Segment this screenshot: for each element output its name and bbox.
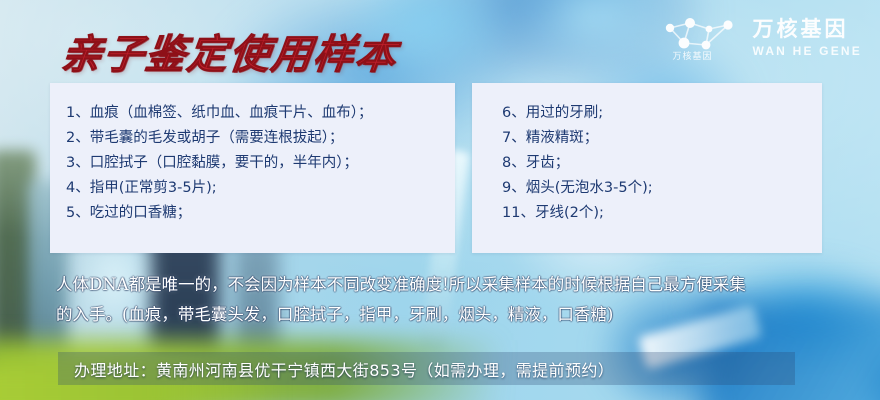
list-item: 6、用过的牙刷;	[472, 101, 822, 126]
list-item: 8、牙齿；	[472, 151, 822, 176]
paragraph-line-1: 人体DNA都是唯一的，不会因为样本不同改变准确度!所以采集样本的时候根据自己最方…	[56, 270, 856, 300]
list-item: 2、带毛囊的毛发或胡子（需要连根拔起）；	[50, 126, 455, 151]
list-item: 7、精液精斑；	[472, 126, 822, 151]
page-title: 亲子鉴定使用样本	[58, 22, 401, 80]
sample-list-panel-right: 6、用过的牙刷; 7、精液精斑； 8、牙齿； 9、烟头(无泡水3-5个); 11…	[472, 83, 822, 253]
list-item: 9、烟头(无泡水3-5个);	[472, 176, 822, 201]
list-item: 5、吃过的口香糖；	[50, 201, 455, 226]
sample-list-panel-left: 1、血痕（血棉签、纸巾血、血痕干片、血布）； 2、带毛囊的毛发或胡子（需要连根拔…	[50, 83, 455, 253]
address-bar: 办理地址：黄南州河南县优干宁镇西大街853号（如需办理，需提前预约）	[58, 352, 795, 385]
logo-mark-caption: 万核基因	[672, 49, 712, 62]
brand-name-en: WAN HE GENE	[752, 45, 862, 57]
list-item: 1、血痕（血棉签、纸巾血、血痕干片、血布）；	[50, 101, 455, 126]
list-item: 3、口腔拭子（口腔黏膜，要干的，半年内）；	[50, 151, 455, 176]
list-item: 11、牙线(2个);	[472, 201, 822, 226]
list-item: 4、指甲(正常剪3-5片);	[50, 176, 455, 201]
brand-logo: 万核基因 万核基因 WAN HE GENE	[664, 14, 862, 62]
sample-list-right: 6、用过的牙刷; 7、精液精斑； 8、牙齿； 9、烟头(无泡水3-5个); 11…	[472, 83, 822, 226]
molecule-network-icon: 万核基因	[664, 16, 742, 60]
explanation-paragraph: 人体DNA都是唯一的，不会因为样本不同改变准确度!所以采集样本的时候根据自己最方…	[56, 270, 856, 330]
paragraph-line-2: 的入手。(血痕，带毛囊头发，口腔拭子，指甲，牙刷，烟头，精液，口香糖)	[56, 300, 856, 330]
brand-name-cn: 万核基因	[752, 19, 862, 40]
poster-root: 万核基因 万核基因 WAN HE GENE 亲子鉴定使用样本 1、血痕（血棉签、…	[0, 0, 880, 400]
brand-logo-words: 万核基因 WAN HE GENE	[752, 19, 862, 57]
address-text: 办理地址：黄南州河南县优干宁镇西大街853号（如需办理，需提前预约）	[58, 357, 614, 381]
sample-list-left: 1、血痕（血棉签、纸巾血、血痕干片、血布）； 2、带毛囊的毛发或胡子（需要连根拔…	[50, 83, 455, 226]
